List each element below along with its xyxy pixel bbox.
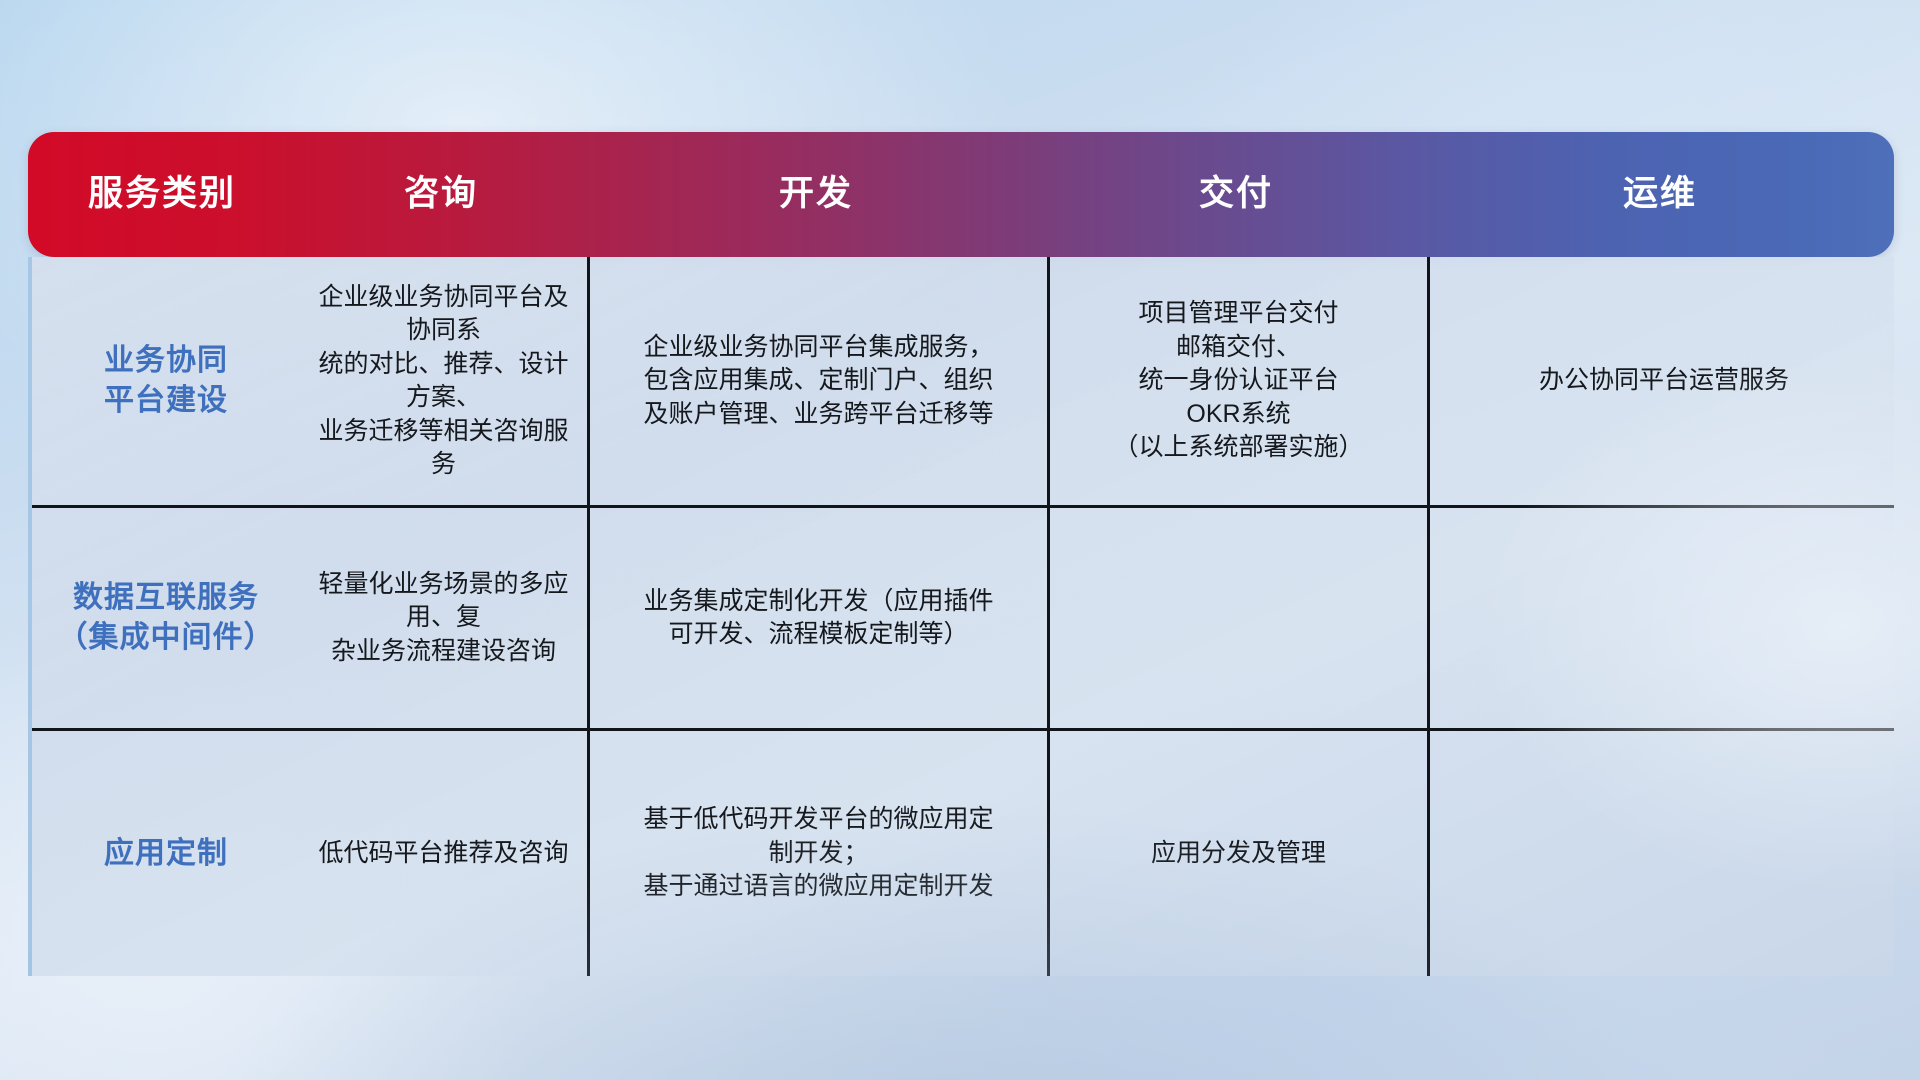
cell-row0-development: 企业级业务协同平台集成服务， 包含应用集成、定制门户、组织 及账户管理、业务跨平…	[590, 257, 1050, 505]
row-label-business-collaboration: 业务协同 平台建设	[32, 257, 300, 505]
cell-row0-operations: 办公协同平台运营服务	[1430, 257, 1898, 505]
cell-row2-operations	[1430, 731, 1898, 976]
cell-row2-development: 基于低代码开发平台的微应用定 制开发； 基于通过语言的微应用定制开发	[590, 731, 1050, 976]
cell-row0-delivery: 项目管理平台交付 邮箱交付、 统一身份认证平台 OKR系统 （以上系统部署实施）	[1050, 257, 1430, 505]
table-row: 应用定制 低代码平台推荐及咨询 基于低代码开发平台的微应用定 制开发； 基于通过…	[32, 731, 1894, 976]
cell-row2-consulting: 低代码平台推荐及咨询	[300, 731, 590, 976]
cell-row1-delivery	[1050, 508, 1430, 728]
column-header-category[interactable]: 服务类别	[28, 132, 296, 257]
row-label-app-customization: 应用定制	[32, 731, 300, 976]
cell-row2-delivery: 应用分发及管理	[1050, 731, 1430, 976]
table-body: 业务协同 平台建设 企业级业务协同平台及协同系 统的对比、推荐、设计方案、 业务…	[28, 257, 1894, 976]
column-header-development[interactable]: 开发	[586, 132, 1046, 257]
column-header-operations[interactable]: 运维	[1426, 132, 1894, 257]
column-header-consulting[interactable]: 咨询	[296, 132, 586, 257]
service-matrix-table: 服务类别 咨询 开发 交付 运维 业务协同 平台建设 企业级业务协同平台及协同系…	[28, 132, 1894, 976]
table-row: 业务协同 平台建设 企业级业务协同平台及协同系 统的对比、推荐、设计方案、 业务…	[32, 257, 1894, 508]
cell-row1-development: 业务集成定制化开发（应用插件 可开发、流程模板定制等）	[590, 508, 1050, 728]
table-header-row: 服务类别 咨询 开发 交付 运维	[28, 132, 1894, 257]
column-header-delivery[interactable]: 交付	[1046, 132, 1426, 257]
cell-row1-operations	[1430, 508, 1898, 728]
table-row: 数据互联服务 （集成中间件） 轻量化业务场景的多应用、复 杂业务流程建设咨询 业…	[32, 508, 1894, 731]
cell-row0-consulting: 企业级业务协同平台及协同系 统的对比、推荐、设计方案、 业务迁移等相关咨询服务	[300, 257, 590, 505]
slide-canvas: 服务类别 咨询 开发 交付 运维 业务协同 平台建设 企业级业务协同平台及协同系…	[0, 0, 1920, 1080]
cell-row1-consulting: 轻量化业务场景的多应用、复 杂业务流程建设咨询	[300, 508, 590, 728]
row-label-data-interconnect: 数据互联服务 （集成中间件）	[32, 508, 300, 728]
